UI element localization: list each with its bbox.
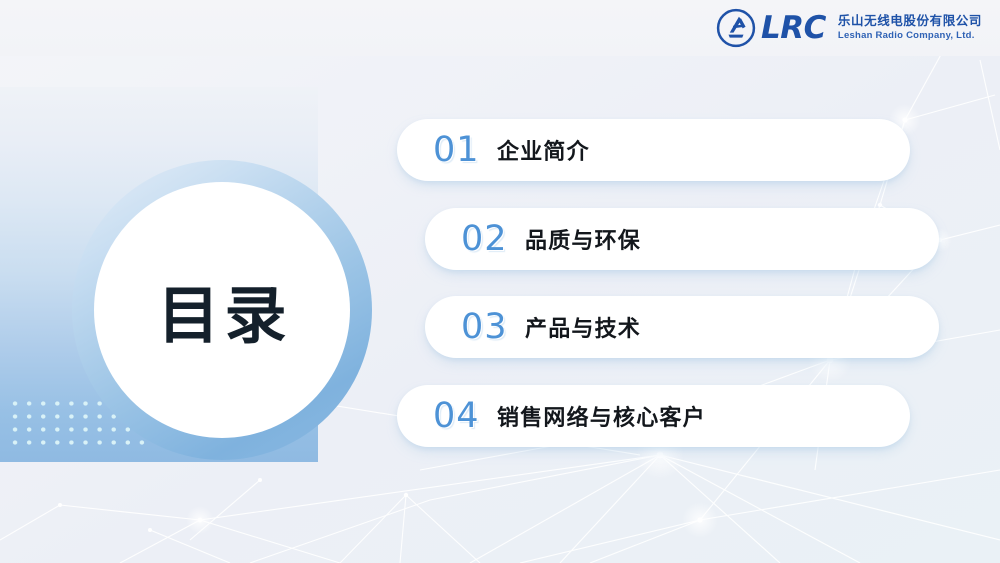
toc-item-2-label: 品质与环保 <box>525 223 641 255</box>
toc-item-4[interactable]: 04 销售网络与核心客户 <box>397 385 910 447</box>
toc-item-3-number: 03 <box>425 307 525 347</box>
toc-item-2[interactable]: 02 品质与环保 <box>425 208 939 270</box>
toc-item-1-label: 企业简介 <box>497 134 590 166</box>
toc-item-2-number: 02 <box>425 219 525 259</box>
toc-item-3-label: 产品与技术 <box>525 311 641 343</box>
toc-list: 01 企业简介 02 品质与环保 03 产品与技术 04 销售网络与核心客户 <box>0 0 1000 563</box>
toc-item-4-label: 销售网络与核心客户 <box>497 400 706 432</box>
toc-item-4-number: 04 <box>397 396 497 436</box>
toc-item-1[interactable]: 01 企业简介 <box>397 119 910 181</box>
slide-canvas: LRC 乐山无线电股份有限公司 Leshan Radio Company, Lt… <box>0 0 1000 563</box>
toc-item-3[interactable]: 03 产品与技术 <box>425 296 939 358</box>
toc-item-1-number: 01 <box>397 130 497 170</box>
